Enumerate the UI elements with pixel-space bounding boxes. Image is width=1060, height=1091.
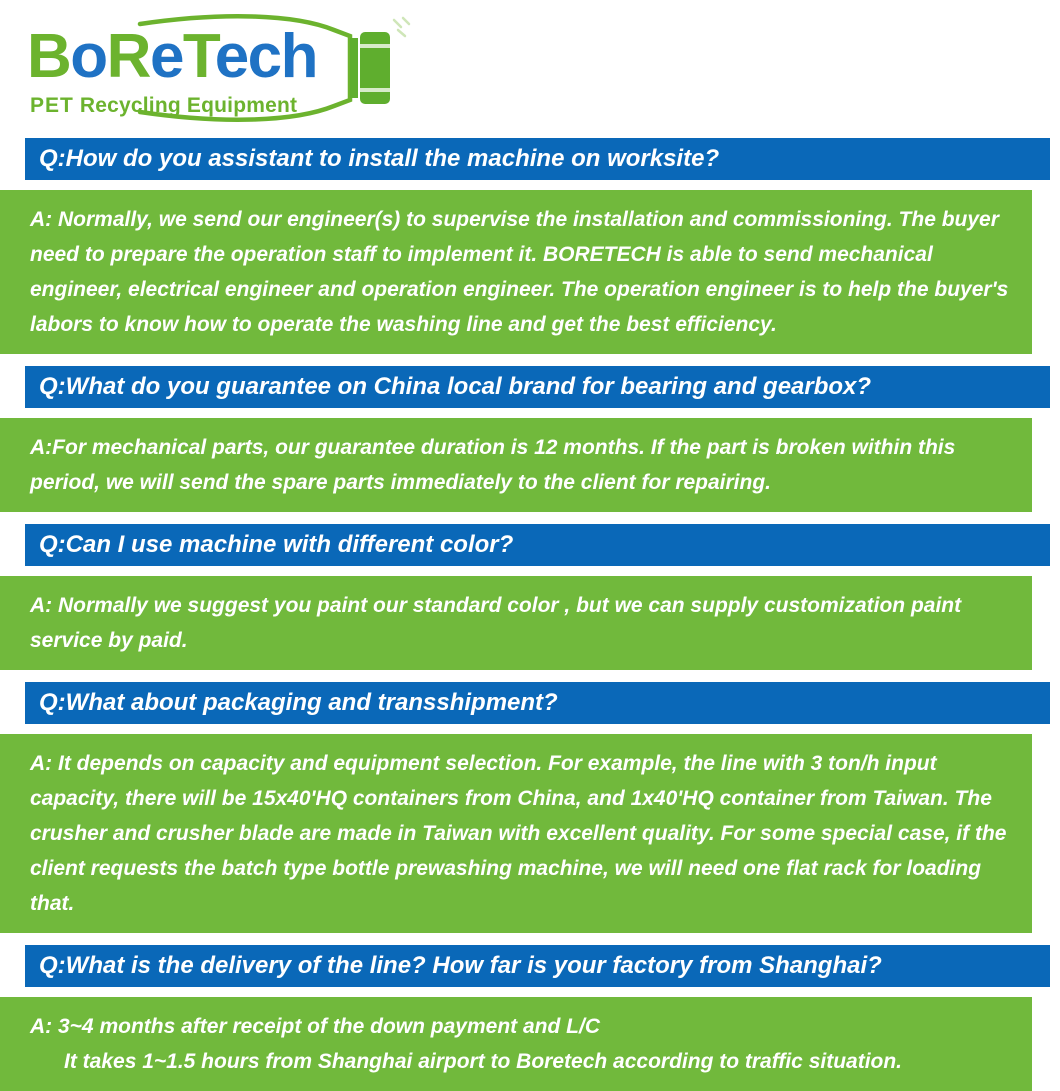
faq-question-1[interactable]: Q:How do you assistant to install the ma… xyxy=(25,138,1050,180)
faq-spacer xyxy=(0,566,1060,576)
brand-header: BoReTech PET Recycling Equipment xyxy=(0,0,1060,138)
faq-question-5[interactable]: Q:What is the delivery of the line? How … xyxy=(25,945,1050,987)
faq-list: Q:How do you assistant to install the ma… xyxy=(0,138,1060,1091)
faq-answer-line: A: Normally we suggest you paint our sta… xyxy=(30,588,1016,658)
faq-spacer xyxy=(0,670,1060,682)
faq-spacer xyxy=(0,180,1060,190)
faq-spacer xyxy=(0,354,1060,366)
brand-tagline: PET Recycling Equipment xyxy=(30,94,297,118)
faq-spacer xyxy=(0,933,1060,945)
faq-answer-line: It takes 1~1.5 hours from Shanghai airpo… xyxy=(30,1044,1016,1079)
faq-item: Q:What about packaging and transshipment… xyxy=(0,682,1060,945)
faq-item: Q:What do you guarantee on China local b… xyxy=(0,366,1060,524)
faq-question-3[interactable]: Q:Can I use machine with different color… xyxy=(25,524,1050,566)
faq-answer-line: A: 3~4 months after receipt of the down … xyxy=(30,1009,1016,1044)
faq-item: Q:What is the delivery of the line? How … xyxy=(0,945,1060,1091)
faq-answer-5: A: 3~4 months after receipt of the down … xyxy=(0,997,1032,1091)
faq-question-2[interactable]: Q:What do you guarantee on China local b… xyxy=(25,366,1050,408)
faq-item: Q:Can I use machine with different color… xyxy=(0,524,1060,682)
faq-spacer xyxy=(0,512,1060,524)
brand-logo: BoReTech PET Recycling Equipment xyxy=(22,8,422,128)
faq-answer-line: A:For mechanical parts, our guarantee du… xyxy=(30,430,1016,500)
faq-answer-1: A: Normally, we send our engineer(s) to … xyxy=(0,190,1032,354)
faq-spacer xyxy=(0,408,1060,418)
brand-letter-t: T xyxy=(183,22,215,91)
brand-tagline-rest: Recycling Equipment xyxy=(74,94,297,117)
faq-answer-line: A: It depends on capacity and equipment … xyxy=(30,746,1016,921)
faq-spacer xyxy=(0,724,1060,734)
faq-answer-3: A: Normally we suggest you paint our sta… xyxy=(0,576,1032,670)
faq-answer-line: A: Normally, we send our engineer(s) to … xyxy=(30,202,1016,342)
faq-item: Q:How do you assistant to install the ma… xyxy=(0,138,1060,366)
brand-wordmark: BoReTech xyxy=(27,26,317,88)
brand-tagline-pet: PET xyxy=(30,94,74,117)
faq-spacer xyxy=(0,987,1060,997)
faq-answer-4: A: It depends on capacity and equipment … xyxy=(0,734,1032,933)
brand-letter-e: e xyxy=(150,22,183,91)
brand-letter-r: R xyxy=(107,22,150,91)
brand-letter-b: B xyxy=(27,22,70,91)
faq-answer-2: A:For mechanical parts, our guarantee du… xyxy=(0,418,1032,512)
brand-letter-o: o xyxy=(70,22,106,91)
faq-question-4[interactable]: Q:What about packaging and transshipment… xyxy=(25,682,1050,724)
brand-letters-ech: ech xyxy=(215,22,317,91)
